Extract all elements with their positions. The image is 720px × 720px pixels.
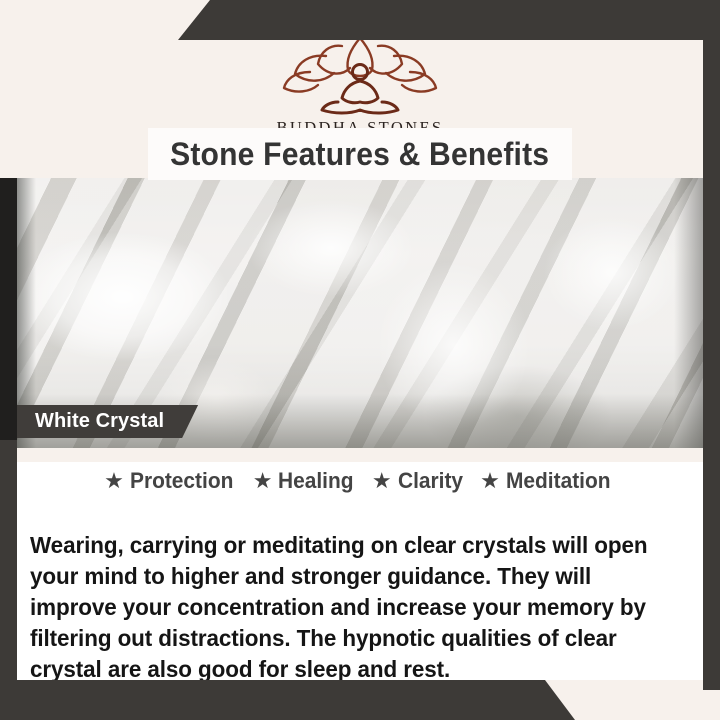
page-title: Stone Features & Benefits (170, 136, 549, 173)
benefit-label: Meditation (506, 468, 611, 494)
benefit-label: Clarity (398, 468, 463, 494)
lotus-meditation-figure-icon (280, 32, 440, 116)
description-text: Wearing, carrying or meditating on clear… (30, 530, 660, 685)
star-icon: ★ (253, 470, 273, 492)
content-top-strip (17, 448, 703, 462)
benefits-row: ★ Protection ★ Healing ★ Clarity ★ Medit… (17, 468, 703, 494)
page-title-banner: Stone Features & Benefits (148, 128, 572, 180)
frame-top-band (0, 0, 720, 40)
benefit-item: ★ Healing (253, 468, 358, 494)
stone-name-label: White Crystal (35, 410, 164, 433)
star-icon: ★ (372, 470, 392, 492)
frame-right-band (703, 0, 720, 690)
content-panel: ★ Protection ★ Healing ★ Clarity ★ Medit… (17, 448, 703, 680)
benefit-item: ★ Meditation (480, 468, 616, 494)
star-icon: ★ (104, 470, 124, 492)
benefit-label: Protection (130, 468, 233, 494)
star-icon: ★ (480, 470, 500, 492)
benefit-item: ★ Protection (104, 468, 239, 494)
stone-name-tag: White Crystal (17, 405, 198, 438)
stone-info-card: BUDDHA STONES Stone Features & Benefits … (0, 0, 720, 720)
frame-left-image-edge (0, 178, 17, 448)
frame-bottom-band (0, 680, 720, 720)
benefit-label: Healing (278, 468, 353, 494)
benefit-item: ★ Clarity (372, 468, 466, 494)
frame-left-band (0, 440, 17, 720)
